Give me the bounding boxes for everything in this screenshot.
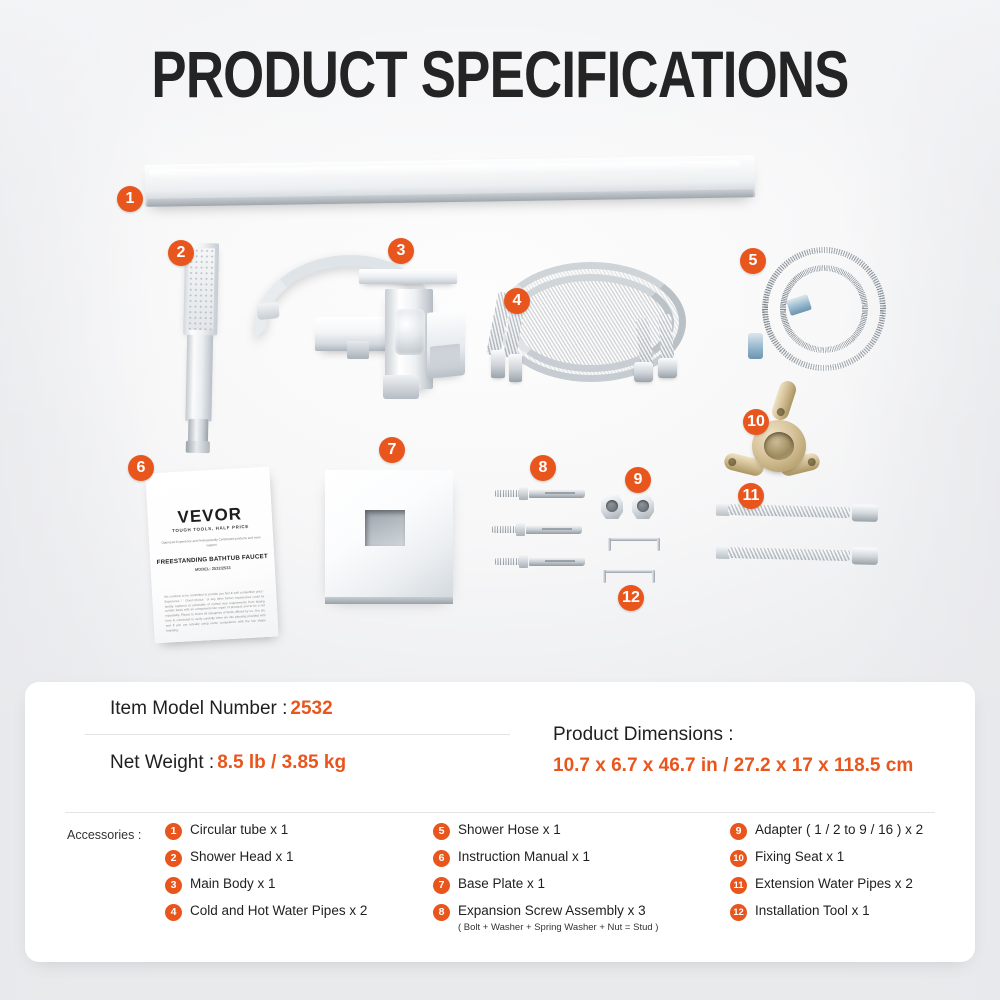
product-dimensions-value: 10.7 x 6.7 x 46.7 in / 27.2 x 17 x 118.5… [553,755,913,777]
manual-body-text: We continue to be committed to provide y… [164,589,266,633]
list-item: 4 Cold and Hot Water Pipes x 2 [165,903,435,921]
part-circular-tube [145,155,756,207]
accessory-label: Shower Hose x 1 [458,822,561,839]
screw-washer-head [519,555,528,568]
fixing-seat-arm-top [770,379,799,422]
list-item: 7 Base Plate x 1 [433,876,733,894]
accessory-label: Adapter ( 1 / 2 to 9 / 16 ) x 2 [755,822,923,839]
accessory-number-badge: 5 [433,823,450,840]
accessory-label: Circular tube x 1 [190,822,288,839]
net-weight-row: Net Weight :8.5 lb / 3.85 kg [110,752,346,774]
fixing-seat-bolt-hole [807,457,817,467]
shower-hose-end-fitting [748,333,763,359]
adapter-bore [637,500,649,512]
accessories-column-1: 1 Circular tube x 1 2 Shower Head x 1 3 … [165,822,435,930]
faucet-control-knob [395,309,425,355]
allen-key-short-arm [657,538,660,551]
allen-key-short-arm [652,570,655,583]
page-title: PRODUCT SPECIFICATIONS [100,36,900,112]
item-model-number-label: Item Model Number : [110,698,287,719]
shower-head-handle [185,335,213,422]
list-item: 10 Fixing Seat x 1 [730,849,980,867]
callout-badge-5: 5 [740,248,766,274]
accessory-number-badge: 12 [730,904,747,921]
accessory-label: Shower Head x 1 [190,849,294,866]
allen-key-long-arm [608,538,660,541]
list-item: 1 Circular tube x 1 [165,822,435,840]
callout-badge-10: 10 [743,409,769,435]
item-model-number-row: Item Model Number :2532 [110,698,333,720]
part-base-plate [325,470,453,598]
accessory-number-badge: 7 [433,877,450,894]
list-item: 5 Shower Hose x 1 [433,822,733,840]
specifications-panel: Item Model Number :2532 Net Weight :8.5 … [25,682,975,962]
accessories-column-3: 9 Adapter ( 1 / 2 to 9 / 16 ) x 2 10 Fix… [730,822,980,930]
net-weight-label: Net Weight : [110,752,214,773]
hose-fitting-left-a [491,350,505,378]
list-item: 6 Instruction Manual x 1 [433,849,733,867]
faucet-lever-handle [427,309,465,379]
fixing-seat-center-bore [764,432,794,460]
product-dimensions-label: Product Dimensions : [553,724,913,746]
callout-badge-3: 3 [388,238,414,264]
faucet-outlet-port [383,375,419,399]
faucet-spout-tip [256,302,280,320]
base-plate-square-hole [365,510,405,546]
faucet-spout-bar [359,269,457,284]
accessory-label-group: Expansion Screw Assembly x 3 ( Bolt + Wa… [458,903,658,934]
part-instruction-manual: VEVOR TOUGH TOOLS, HALF PRICE Optimized … [145,467,278,644]
callout-badge-12: 12 [618,585,644,611]
screw-thread [495,490,520,497]
specifications-summary: Item Model Number :2532 Net Weight :8.5 … [25,682,975,810]
accessory-number-badge: 10 [730,850,747,867]
allen-key-short-arm [608,538,611,551]
accessory-sublabel: ( Bolt + Washer + Spring Washer + Nut = … [458,922,658,934]
accessory-number-badge: 9 [730,823,747,840]
accessory-number-badge: 4 [165,904,182,921]
allen-key-short-arm [603,570,606,583]
list-item: 2 Shower Head x 1 [165,849,435,867]
list-item: 3 Main Body x 1 [165,876,435,894]
extension-pipe-braid [728,547,850,561]
callout-badge-6: 6 [128,455,154,481]
screw-sleeve [526,525,582,534]
accessory-number-badge: 3 [165,877,182,894]
accessory-number-badge: 8 [433,904,450,921]
list-item: 11 Extension Water Pipes x 2 [730,876,980,894]
callout-badge-8: 8 [530,455,556,481]
accessory-label: Fixing Seat x 1 [755,849,844,866]
accessory-number-badge: 2 [165,850,182,867]
product-dimensions-block: Product Dimensions : 10.7 x 6.7 x 46.7 i… [553,724,913,777]
accessory-label: Cold and Hot Water Pipes x 2 [190,903,367,920]
extension-pipe-outlet-nut [852,504,878,522]
accessory-label: Expansion Screw Assembly x 3 [458,903,646,918]
part-main-body [255,255,465,415]
part-fixing-seat [718,398,842,494]
divider-model [85,734,510,735]
callout-badge-2: 2 [168,240,194,266]
divider-accessories [65,812,935,813]
faucet-inlet-port [347,341,369,359]
extension-pipe-outlet-nut [852,547,878,565]
screw-sleeve [529,489,585,498]
product-specifications-page: PRODUCT SPECIFICATIONS 1 2 3 [0,0,1000,1000]
hose-fitting-left-b [509,354,522,382]
part-cold-hot-water-pipes [488,258,688,388]
net-weight-value: 8.5 lb / 3.85 kg [217,752,346,773]
accessory-label: Extension Water Pipes x 2 [755,876,913,893]
accessories-column-2: 5 Shower Hose x 1 6 Instruction Manual x… [433,822,733,943]
part-shower-head [181,243,219,444]
accessories-label: Accessories : [67,828,141,842]
list-item: 9 Adapter ( 1 / 2 to 9 / 16 ) x 2 [730,822,980,840]
callout-badge-9: 9 [625,467,651,493]
accessory-number-badge: 11 [730,877,747,894]
list-item: 12 Installation Tool x 1 [730,903,980,921]
part-adapter-1 [601,495,623,519]
callout-badge-11: 11 [738,483,764,509]
list-item: 8 Expansion Screw Assembly x 3 ( Bolt + … [433,903,733,934]
part-shower-hose [746,245,894,373]
screw-washer-head [516,523,525,536]
callout-badge-7: 7 [379,437,405,463]
fixing-seat-bolt-hole [776,407,786,417]
shower-head-nut [186,441,210,453]
screw-washer-head [519,487,528,500]
accessory-number-badge: 1 [165,823,182,840]
accessory-label: Installation Tool x 1 [755,903,870,920]
item-model-number-value: 2532 [290,698,332,719]
accessory-label: Base Plate x 1 [458,876,545,893]
part-extension-water-pipe-2 [728,546,878,563]
accessory-label: Instruction Manual x 1 [458,849,590,866]
part-adapter-2 [632,495,654,519]
allen-key-long-arm [603,570,655,573]
adapter-bore [606,500,618,512]
hose-nut-right-a [634,362,653,382]
screw-thread [492,526,517,533]
accessory-number-badge: 6 [433,850,450,867]
accessory-label: Main Body x 1 [190,876,276,893]
hose-nut-right-b [658,358,677,378]
callout-badge-4: 4 [504,288,530,314]
fixing-seat-bolt-hole [727,457,737,467]
manual-subline: Optimized Experience and Professionally … [159,535,263,550]
callout-badge-1: 1 [117,186,143,212]
screw-thread [495,558,520,565]
screw-sleeve [529,557,585,566]
